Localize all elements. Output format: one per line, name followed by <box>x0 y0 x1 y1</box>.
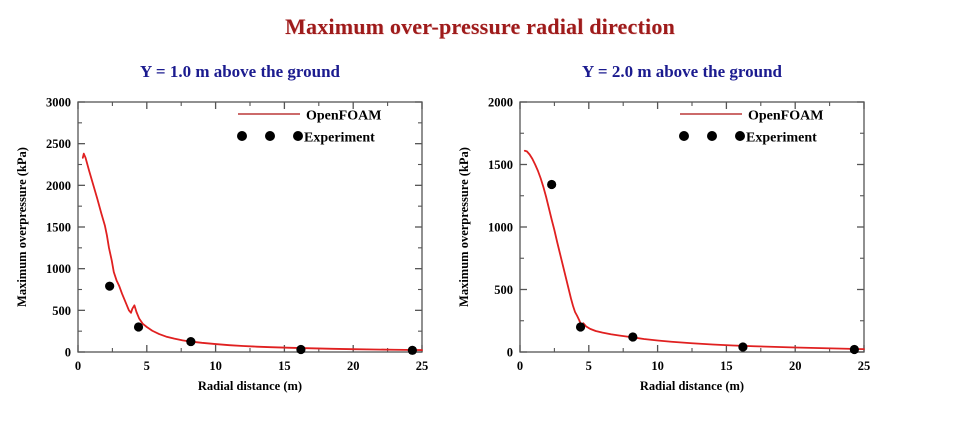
legend-label-experiment: Experiment <box>304 131 375 146</box>
panel-subtitle: Y = 1.0 m above the ground <box>10 62 470 82</box>
x-tick-label: 15 <box>720 359 733 373</box>
y-axis-title: Maximum overpressure (kPa) <box>15 147 29 307</box>
y-tick-label: 2000 <box>46 179 71 193</box>
y-tick-label: 500 <box>494 283 513 297</box>
experiment-point <box>408 346 417 355</box>
experiment-point <box>850 345 859 354</box>
x-tick-label: 20 <box>347 359 360 373</box>
x-tick-label: 10 <box>209 359 222 373</box>
experiment-point <box>547 180 556 189</box>
x-tick-label: 10 <box>651 359 664 373</box>
legend-marker-swatch <box>735 131 745 141</box>
experiment-points <box>105 282 417 355</box>
legend-marker-swatch <box>707 131 717 141</box>
x-axis-title: Radial distance (m) <box>640 379 744 393</box>
panel-subtitle: Y = 2.0 m above the ground <box>452 62 912 82</box>
x-tick-label: 20 <box>789 359 802 373</box>
chart-legend: OpenFOAMExperiment <box>237 109 381 146</box>
chart-panel-y2: Y = 2.0 m above the ground 0500100015002… <box>452 62 912 402</box>
legend-marker-swatch <box>679 131 689 141</box>
y-tick-label: 0 <box>65 346 71 360</box>
x-tick-label: 0 <box>75 359 81 373</box>
x-axis-title: Radial distance (m) <box>198 379 302 393</box>
y-tick-label: 500 <box>52 304 71 318</box>
y-axis-title: Maximum overpressure (kPa) <box>457 147 471 307</box>
legend-label-experiment: Experiment <box>746 131 817 146</box>
openfoam-curve <box>83 154 422 350</box>
x-tick-label: 0 <box>517 359 523 373</box>
y-tick-label: 0 <box>507 346 513 360</box>
x-tick-label: 5 <box>144 359 150 373</box>
chart-panel-y1: Y = 1.0 m above the ground 0500100015002… <box>10 62 470 402</box>
experiment-point <box>186 337 195 346</box>
legend-marker-swatch <box>237 131 247 141</box>
legend-label-openfoam: OpenFOAM <box>306 109 381 124</box>
y-tick-label: 1500 <box>488 158 513 172</box>
x-tick-label: 25 <box>858 359 871 373</box>
x-tick-label: 15 <box>278 359 291 373</box>
y-tick-label: 1500 <box>46 221 71 235</box>
y-tick-label: 1000 <box>488 221 513 235</box>
legend-label-openfoam: OpenFOAM <box>748 109 823 124</box>
legend-marker-swatch <box>293 131 303 141</box>
chart-page: Maximum over-pressure radial direction Y… <box>0 0 960 429</box>
experiment-point <box>738 342 747 351</box>
experiment-point <box>296 345 305 354</box>
chart-svg-y1: 0500100015002000250030000510152025Radial… <box>10 88 470 398</box>
y-tick-label: 1000 <box>46 262 71 276</box>
experiment-point <box>628 332 637 341</box>
page-title: Maximum over-pressure radial direction <box>0 14 960 40</box>
y-tick-label: 2500 <box>46 137 71 151</box>
experiment-point <box>134 322 143 331</box>
experiment-point <box>576 322 585 331</box>
experiment-points <box>547 180 859 354</box>
chart-svg-y2: 05001000150020000510152025Radial distanc… <box>452 88 912 398</box>
experiment-point <box>105 282 114 291</box>
openfoam-curve <box>525 151 864 349</box>
x-tick-label: 25 <box>416 359 429 373</box>
x-tick-label: 5 <box>586 359 592 373</box>
y-tick-label: 3000 <box>46 96 71 110</box>
legend-marker-swatch <box>265 131 275 141</box>
y-tick-label: 2000 <box>488 96 513 110</box>
chart-legend: OpenFOAMExperiment <box>679 109 823 146</box>
